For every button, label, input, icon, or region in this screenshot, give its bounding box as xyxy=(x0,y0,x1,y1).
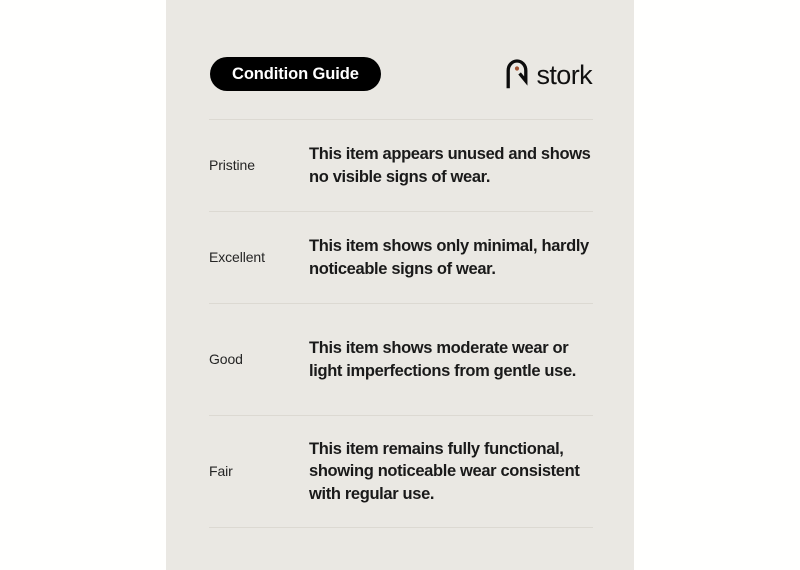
condition-description: This item appears unused and shows no vi… xyxy=(309,143,593,188)
condition-label: Excellent xyxy=(209,249,309,266)
condition-description: This item shows only minimal, hardly not… xyxy=(309,235,593,280)
screenshot-stage: Condition Guide stork Pristine This item… xyxy=(0,0,800,570)
stork-arch-mark-icon xyxy=(505,59,529,89)
row-divider-bottom xyxy=(209,527,593,528)
condition-label: Fair xyxy=(209,463,309,480)
table-row: Excellent This item shows only minimal, … xyxy=(209,212,593,303)
table-row: Pristine This item appears unused and sh… xyxy=(209,120,593,211)
condition-description: This item shows moderate wear or light i… xyxy=(309,337,593,382)
table-row: Good This item shows moderate wear or li… xyxy=(209,304,593,415)
condition-description: This item remains fully functional, show… xyxy=(309,438,593,506)
condition-table: Pristine This item appears unused and sh… xyxy=(209,119,593,528)
condition-guide-card: Condition Guide stork Pristine This item… xyxy=(166,0,634,570)
condition-guide-pill[interactable]: Condition Guide xyxy=(210,57,381,91)
condition-label: Pristine xyxy=(209,157,309,174)
table-row: Fair This item remains fully functional,… xyxy=(209,416,593,527)
brand-lockup[interactable]: stork xyxy=(505,57,592,91)
condition-label: Good xyxy=(209,351,309,368)
card-header: Condition Guide stork xyxy=(210,57,592,91)
brand-wordmark: stork xyxy=(536,62,592,89)
